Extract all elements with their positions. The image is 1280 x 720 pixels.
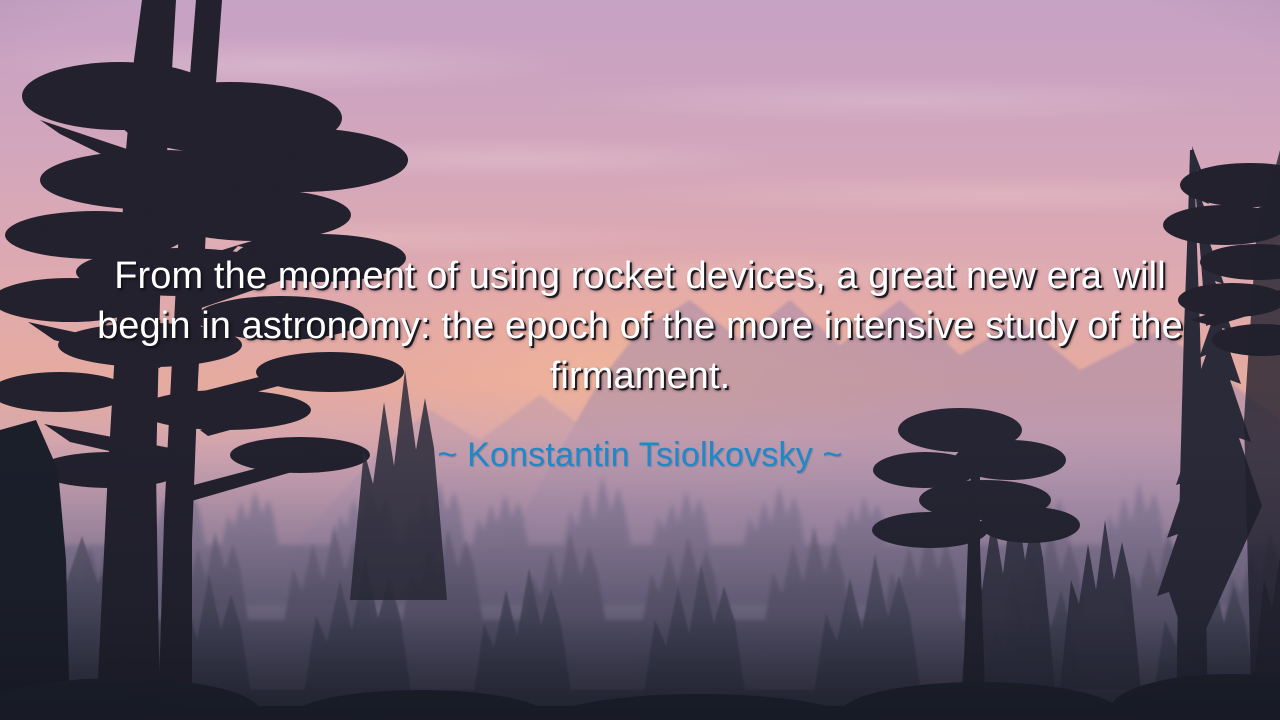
quote-author: ~ Konstantin Tsiolkovsky ~ bbox=[437, 435, 842, 475]
quote-text: From the moment of using rocket devices,… bbox=[85, 251, 1195, 401]
quote-overlay: From the moment of using rocket devices,… bbox=[0, 0, 1280, 720]
quote-image-canvas: From the moment of using rocket devices,… bbox=[0, 0, 1280, 720]
